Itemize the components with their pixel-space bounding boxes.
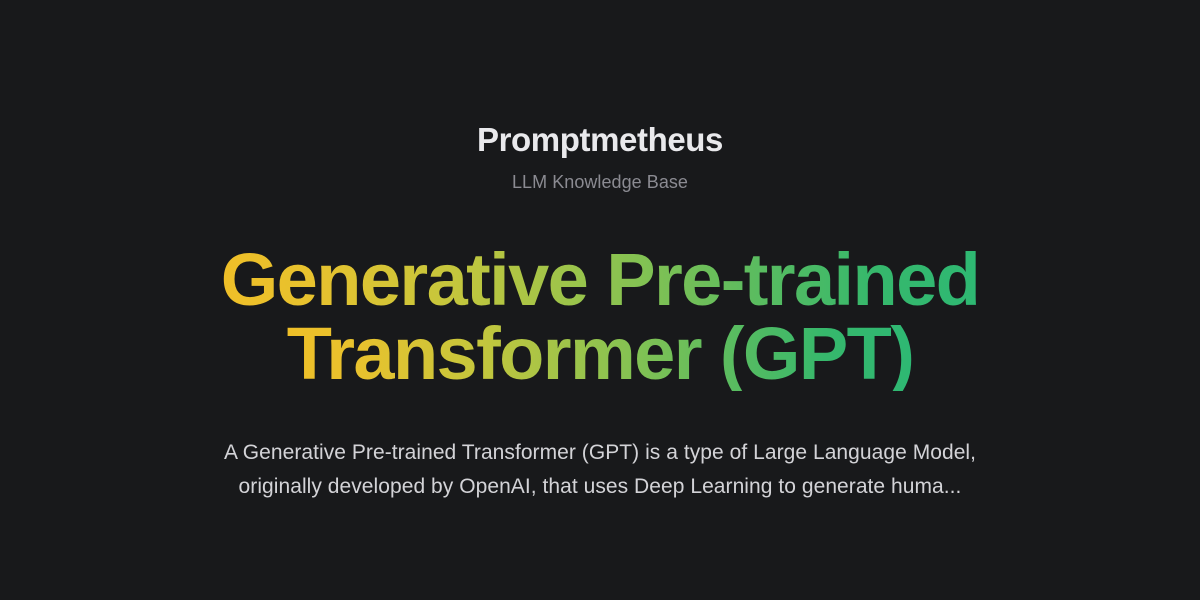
entry-description: A Generative Pre-trained Transformer (GP… bbox=[224, 436, 976, 504]
brand-block: Promptmetheus LLM Knowledge Base bbox=[477, 118, 723, 195]
og-card: Promptmetheus LLM Knowledge Base Generat… bbox=[0, 0, 1200, 600]
entry-title-line-1: Generative Pre-trained bbox=[221, 243, 980, 317]
entry-title: Generative Pre-trained Transformer (GPT) bbox=[221, 243, 980, 391]
entry-title-line-2: Transformer (GPT) bbox=[287, 317, 914, 391]
entry-description-line-1: A Generative Pre-trained Transformer (GP… bbox=[224, 436, 976, 470]
brand-tagline: LLM Knowledge Base bbox=[512, 169, 688, 195]
brand-name: Promptmetheus bbox=[477, 118, 723, 162]
entry-description-line-2: originally developed by OpenAI, that use… bbox=[224, 470, 976, 504]
